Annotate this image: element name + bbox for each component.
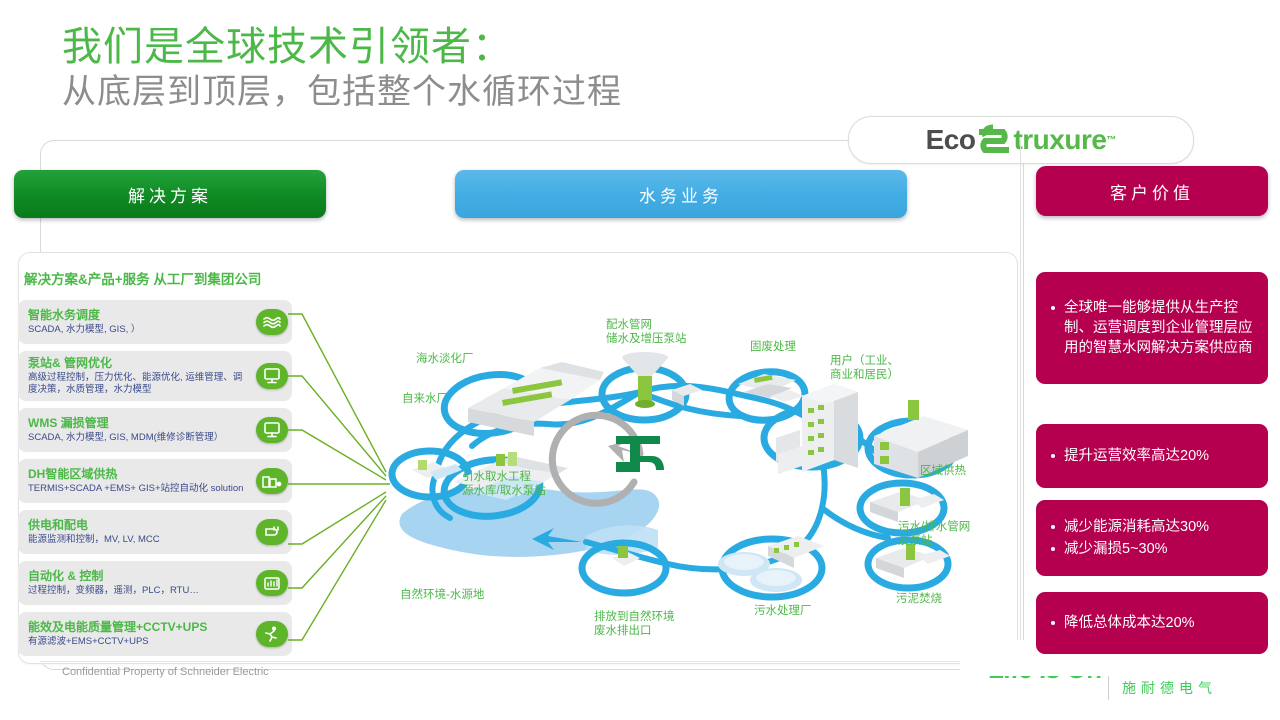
solution-item-6-subtitle: 有源滤波+EMS+CCTV+UPS	[28, 636, 246, 648]
label-distribution-network: 配水管网 储水及增压泵站	[606, 318, 687, 346]
solution-item-6-title: 能效及电能质量管理+CCTV+UPS	[28, 620, 246, 635]
label-sewage-network: 污水/排水管网 及泵站	[898, 520, 970, 548]
energy-runner-icon	[256, 621, 288, 647]
heating-plant-icon	[256, 468, 288, 494]
solution-item-1[interactable]: 泵站& 管网优化高级过程控制，压力优化、能源优化, 运维管理、调度决策，水质管理…	[18, 351, 292, 401]
label-discharge: 排放到自然环境 废水排出口	[594, 610, 675, 638]
monitor-icon	[256, 417, 288, 443]
value-card-1-list: 提升运营效率高达20%	[1046, 444, 1209, 468]
solution-item-5-subtitle: 过程控制，变频器，遥测，PLC，RTU…	[28, 585, 246, 597]
solution-item-5[interactable]: 自动化 & 控制过程控制，变频器，遥测，PLC，RTU…	[18, 561, 292, 605]
solution-item-1-subtitle: 高级过程控制，压力优化、能源优化, 运维管理、调度决策，水质管理，水力模型	[28, 372, 246, 396]
automation-gauge-icon	[256, 570, 288, 596]
logo-eco-text: Eco	[926, 124, 976, 156]
value-card-0-bullet-0: 全球唯一能够提供从生产控制、运营调度到企业管理层应用的智慧水网解决方案供应商	[1046, 298, 1258, 358]
power-plug-icon	[256, 519, 288, 545]
page-title: 我们是全球技术引领者： 从底层到顶层，包括整个水循环过程	[62, 24, 962, 114]
label-solid-waste: 固废处理	[750, 340, 796, 354]
value-card-2-bullet-1: 减少漏损5~30%	[1046, 539, 1209, 559]
confidential-note: Confidential Property of Schneider Elect…	[62, 666, 269, 678]
ecostruxure-logo: Eco truxure ™	[848, 116, 1194, 164]
value-card-3-bullet-0: 降低总体成本达20%	[1046, 613, 1195, 633]
label-desalination-plant: 海水淡化厂	[416, 352, 474, 366]
value-card-2-bullet-0: 减少能源消耗高达30%	[1046, 517, 1209, 537]
solution-item-0-title: 智能水务调度	[28, 308, 246, 323]
header-pill-customer-value-label: 客户价值	[1110, 179, 1194, 204]
solution-item-2-title: WMS 漏损管理	[28, 416, 246, 431]
label-district-heating: 区域供热	[920, 464, 966, 478]
solution-item-2[interactable]: WMS 漏损管理SCADA, 水力模型, GIS, MDM(维修诊断管理）	[18, 408, 292, 452]
value-card-0: 全球唯一能够提供从生产控制、运营调度到企业管理层应用的智慧水网解决方案供应商	[1036, 272, 1268, 384]
header-pill-solutions[interactable]: 解决方案	[14, 170, 326, 218]
right-column-divider	[1020, 140, 1021, 668]
water-recycle-faucet-icon	[552, 415, 664, 503]
title-line-2: 从底层到顶层，包括整个水循环过程	[62, 70, 962, 114]
solution-item-3-subtitle: TERMIS+SCADA +EMS+ GIS+站控自动化 solution	[28, 483, 246, 495]
solution-list: 智能水务调度SCADA, 水力模型, GIS, ）泵站& 管网优化高级过程控制，…	[18, 300, 292, 663]
header-pill-water-business-label: 水务业务	[639, 182, 723, 207]
label-users: 用户（工业、 商业和居民）	[830, 354, 899, 382]
value-card-2-list: 减少能源消耗高达30%减少漏损5~30%	[1046, 515, 1209, 561]
water-waves-icon	[256, 309, 288, 335]
label-sludge-incineration: 污泥焚烧	[896, 592, 942, 606]
slide-root: 我们是全球技术引领者： 从底层到顶层，包括整个水循环过程 Eco truxure…	[0, 0, 1280, 720]
header-pill-water-business[interactable]: 水务业务	[455, 170, 907, 218]
solution-item-2-subtitle: SCADA, 水力模型, GIS, MDM(维修诊断管理）	[28, 432, 246, 444]
header-pill-customer-value[interactable]: 客户价值	[1036, 166, 1268, 216]
solutions-card-title: 解决方案&产品+服务 从工厂到集团公司	[24, 268, 261, 288]
solution-item-4-title: 供电和配电	[28, 518, 246, 533]
label-waterworks: 自来水厂	[402, 392, 448, 406]
title-line-1: 我们是全球技术引领者：	[62, 24, 962, 70]
logo-tm-mark: ™	[1106, 135, 1116, 146]
solution-item-0-subtitle: SCADA, 水力模型, GIS, ）	[28, 324, 246, 336]
header-pill-solutions-label: 解决方案	[128, 182, 212, 207]
solution-item-0[interactable]: 智能水务调度SCADA, 水力模型, GIS, ）	[18, 300, 292, 344]
solution-item-1-title: 泵站& 管网优化	[28, 356, 246, 371]
schneider-brand-cn: 施耐德电气	[1122, 678, 1280, 698]
label-natural-source: 自然环境-水源地	[400, 588, 484, 602]
solution-item-3-title: DH智能区域供热	[28, 467, 246, 482]
logo-truxure-text: truxure	[1013, 124, 1106, 156]
value-card-3: 降低总体成本达20%	[1036, 592, 1268, 654]
label-intake-works: 引水取水工程 源水库/取水泵站	[462, 470, 546, 498]
ecostruxure-s-mark-icon	[973, 123, 1015, 157]
solution-item-4[interactable]: 供电和配电能源监测和控制，MV, LV, MCC	[18, 510, 292, 554]
solution-item-5-title: 自动化 & 控制	[28, 569, 246, 584]
monitor-icon	[256, 363, 288, 389]
water-cycle-diagram: 海水淡化厂自来水厂配水管网 储水及增压泵站固废处理用户（工业、 商业和居民）区域…	[372, 296, 1012, 656]
value-card-3-list: 降低总体成本达20%	[1046, 611, 1195, 635]
solution-item-6[interactable]: 能效及电能质量管理+CCTV+UPS有源滤波+EMS+CCTV+UPS	[18, 612, 292, 656]
solution-item-3[interactable]: DH智能区域供热 TERMIS+SCADA +EMS+ GIS+站控自动化 so…	[18, 459, 292, 503]
value-card-2: 减少能源消耗高达30%减少漏损5~30%	[1036, 500, 1268, 576]
value-card-0-list: 全球唯一能够提供从生产控制、运营调度到企业管理层应用的智慧水网解决方案供应商	[1046, 296, 1258, 360]
solution-item-4-subtitle: 能源监测和控制，MV, LV, MCC	[28, 534, 246, 546]
value-card-1: 提升运营效率高达20%	[1036, 424, 1268, 488]
value-card-1-bullet-0: 提升运营效率高达20%	[1046, 446, 1209, 466]
label-sewage-plant: 污水处理厂	[754, 604, 812, 618]
